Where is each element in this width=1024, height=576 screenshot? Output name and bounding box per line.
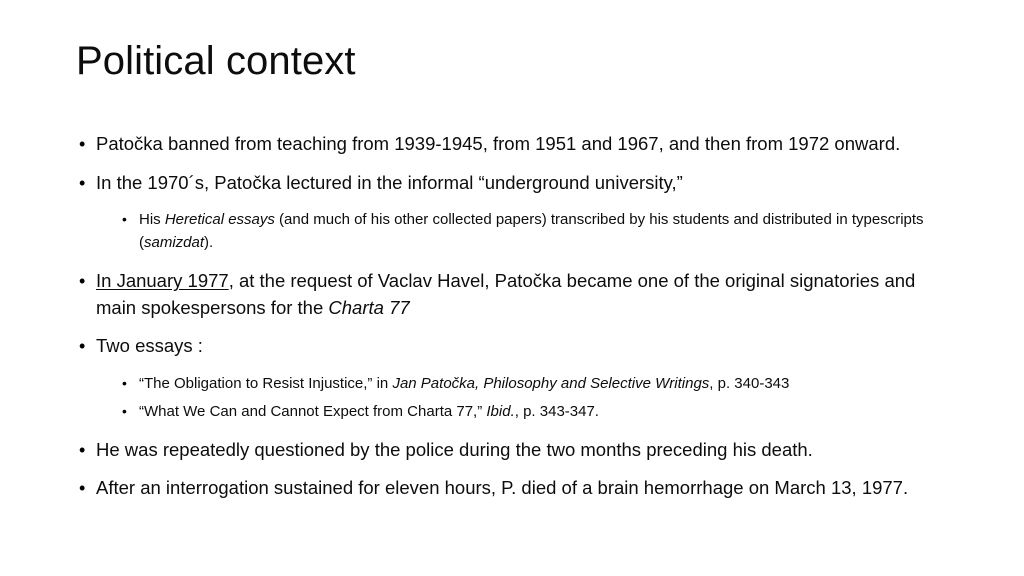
plain-text: , p. 340-343 — [709, 375, 789, 392]
sub-bullet-item-essay-what-we-can-and-cannot-expect: •“What We Can and Cannot Expect from Cha… — [120, 400, 924, 423]
plain-text: “What We Can and Cannot Expect from Char… — [139, 403, 486, 420]
slide: Political context •Patočka banned from t… — [0, 0, 1024, 576]
bullet-text: Patočka banned from teaching from 1939-1… — [96, 131, 924, 158]
plain-text: “The Obligation to Resist Injustice,” in — [139, 375, 392, 392]
bullet-marker-icon: • — [76, 437, 96, 464]
bullet-marker-icon: • — [76, 268, 96, 295]
bullet-text: Two essays : — [96, 333, 924, 360]
plain-text: In the 1970´s, Patočka lectured in the i… — [96, 172, 683, 193]
italic-text: Ibid. — [486, 403, 514, 420]
bullet-item-death-march-1977: •After an interrogation sustained for el… — [76, 475, 924, 502]
bullet-marker-icon: • — [76, 131, 96, 158]
bullet-marker-icon: • — [76, 475, 96, 502]
plain-text: Patočka banned from teaching from 1939-1… — [96, 133, 900, 154]
plain-text: After an interrogation sustained for ele… — [96, 477, 908, 498]
plain-text: He was repeatedly questioned by the poli… — [96, 439, 813, 460]
italic-text: Heretical essays — [165, 211, 275, 228]
bullet-text: He was repeatedly questioned by the poli… — [96, 437, 924, 464]
sub-bullet-group: •“The Obligation to Resist Injustice,” i… — [76, 372, 924, 423]
page-title: Political context — [76, 38, 956, 84]
sub-bullet-group: •His Heretical essays (and much of his o… — [76, 208, 924, 254]
sub-bullet-marker-icon: • — [120, 372, 139, 395]
bullet-item-underground-university: •In the 1970´s, Patočka lectured in the … — [76, 170, 924, 197]
bullet-marker-icon: • — [76, 333, 96, 360]
italic-text: Charta 77 — [328, 297, 409, 318]
sub-bullet-text: “The Obligation to Resist Injustice,” in… — [139, 372, 924, 395]
bullet-text: After an interrogation sustained for ele… — [96, 475, 924, 502]
sub-bullet-marker-icon: • — [120, 400, 139, 423]
bullet-marker-icon: • — [76, 170, 96, 197]
bullet-item-questioned-by-police: •He was repeatedly questioned by the pol… — [76, 437, 924, 464]
sub-bullet-item-heretical-essays-samizdat: •His Heretical essays (and much of his o… — [120, 208, 924, 254]
plain-text: His — [139, 211, 165, 228]
bullet-item-banned-from-teaching: •Patočka banned from teaching from 1939-… — [76, 131, 924, 158]
underlined-text: In January 1977 — [96, 270, 229, 291]
plain-text: , p. 343-347. — [515, 403, 599, 420]
slide-body: •Patočka banned from teaching from 1939-… — [76, 131, 924, 514]
sub-bullet-item-essay-obligation-to-resist-injustice: •“The Obligation to Resist Injustice,” i… — [120, 372, 924, 395]
italic-text: Jan Patočka, Philosophy and Selective Wr… — [392, 375, 709, 392]
bullet-item-two-essays: •Two essays : — [76, 333, 924, 360]
sub-bullet-text: “What We Can and Cannot Expect from Char… — [139, 400, 924, 423]
bullet-text: In January 1977, at the request of Vacla… — [96, 268, 924, 321]
bullet-item-charta-77-signatory: •In January 1977, at the request of Vacl… — [76, 268, 924, 321]
plain-text: ). — [204, 234, 213, 251]
sub-bullet-text: His Heretical essays (and much of his ot… — [139, 208, 924, 254]
italic-text: samizdat — [144, 234, 204, 251]
plain-text: Two essays : — [96, 335, 203, 356]
sub-bullet-marker-icon: • — [120, 208, 139, 231]
bullet-text: In the 1970´s, Patočka lectured in the i… — [96, 170, 924, 197]
